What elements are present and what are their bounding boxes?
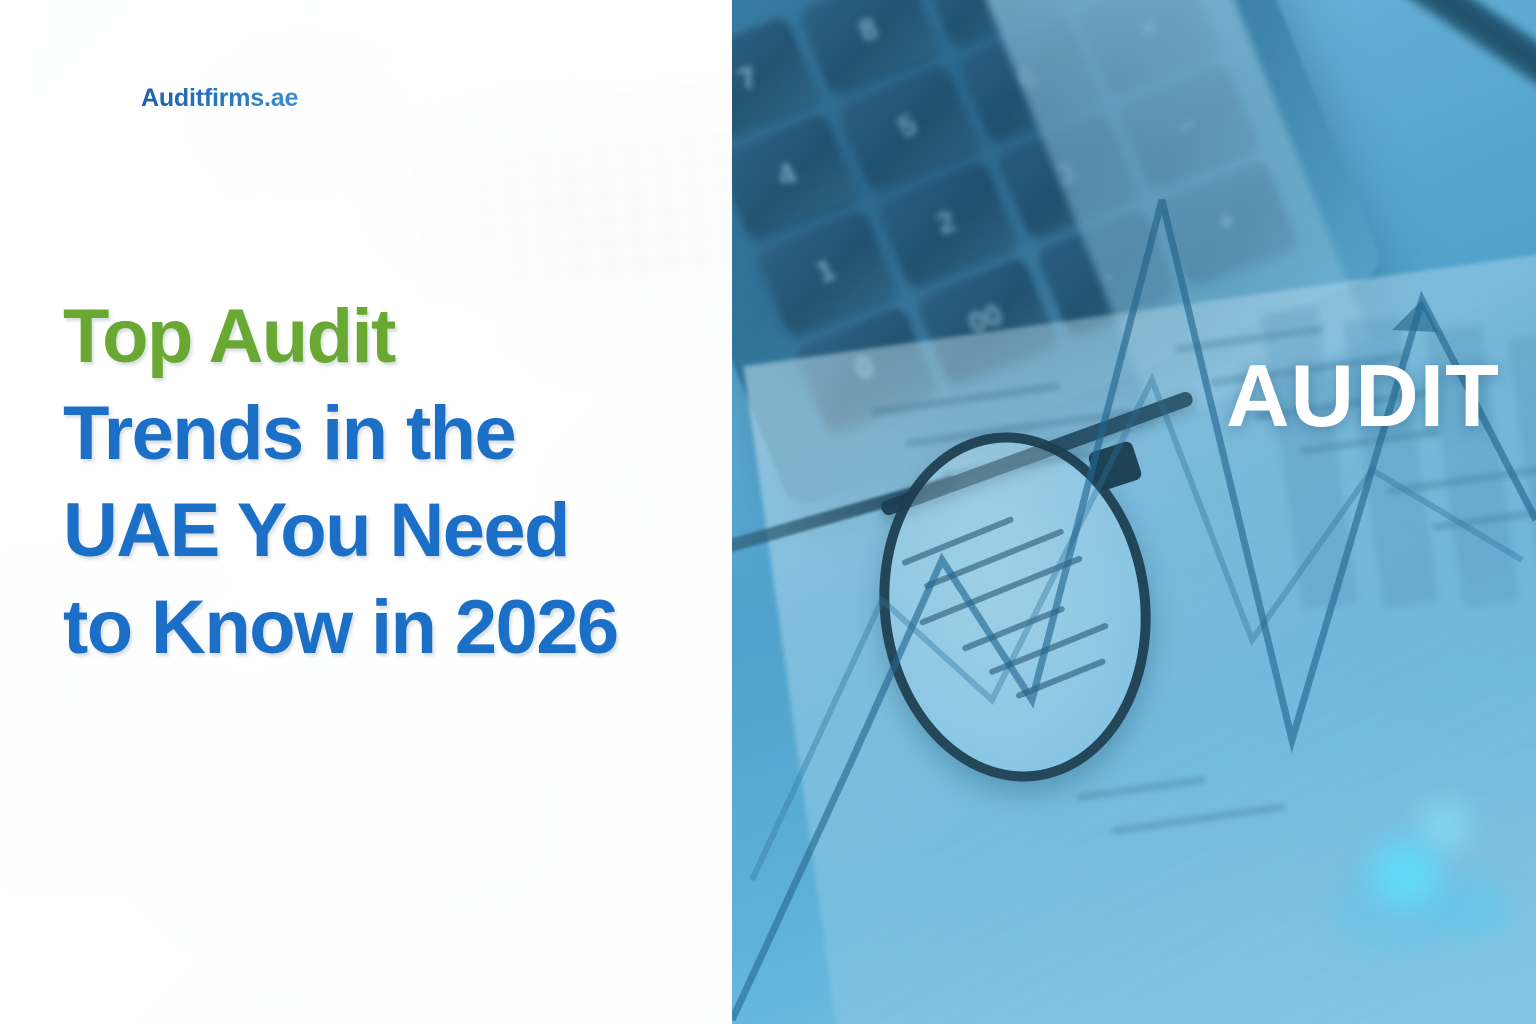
photo-blue-tint xyxy=(732,0,1536,1024)
promo-banner: Auditfirms.ae Top Audit Trends in the UA… xyxy=(0,0,1536,1024)
left-content-panel: Auditfirms.ae Top Audit Trends in the UA… xyxy=(0,0,732,1024)
headline-line-1: Top Audit xyxy=(63,288,703,385)
headline-line-2: Trends in the xyxy=(63,385,703,482)
hero-photo: 789÷456×123−000.+ xyxy=(732,0,1536,1024)
page-title: Top Audit Trends in the UAE You Need to … xyxy=(63,288,703,676)
headline-line-3: UAE You Need xyxy=(63,482,703,579)
audit-wordmark: AUDIT xyxy=(1226,352,1500,440)
headline-line-4: to Know in 2026 xyxy=(63,579,703,676)
brand-logo[interactable]: Auditfirms.ae xyxy=(141,84,298,113)
